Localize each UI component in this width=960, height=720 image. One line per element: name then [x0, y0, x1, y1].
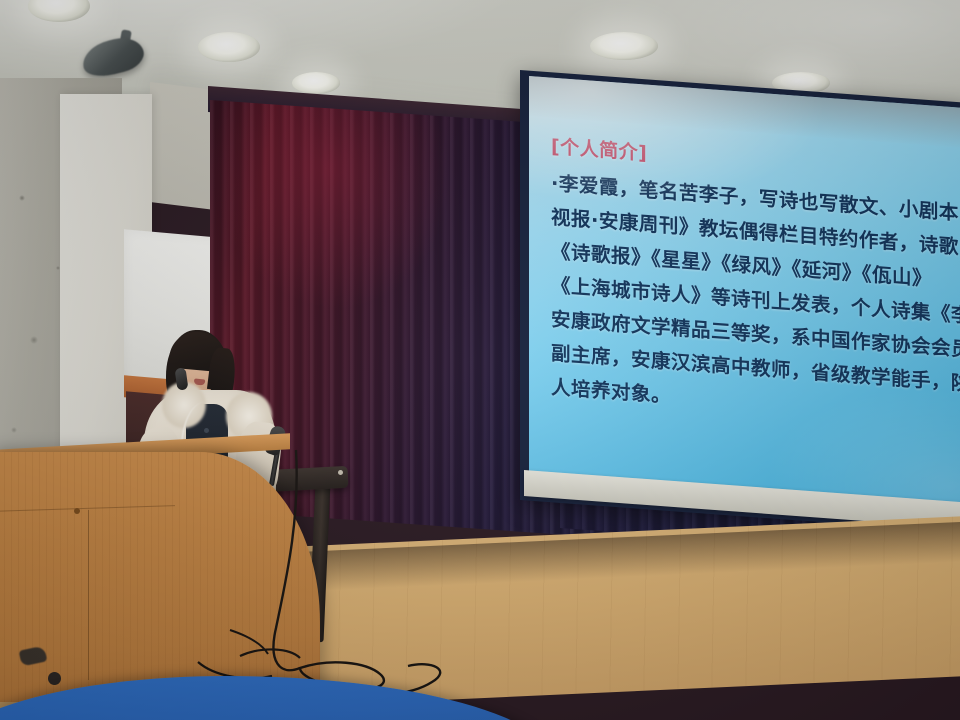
downlight-icon [198, 32, 260, 62]
downlight-icon [292, 72, 340, 94]
photo-scene: [个人简介] ·李爱霞，笔名苦李子，写诗也写散文、小剧本， 视报·安康周刊》教坛… [0, 0, 960, 720]
cable-group [0, 430, 960, 720]
slide-content: [个人简介] ·李爱霞，笔名苦李子，写诗也写散文、小剧本， 视报·安康周刊》教坛… [551, 130, 960, 443]
downlight-icon [590, 32, 658, 60]
audio-cable [240, 649, 300, 658]
audio-cable [273, 450, 300, 670]
